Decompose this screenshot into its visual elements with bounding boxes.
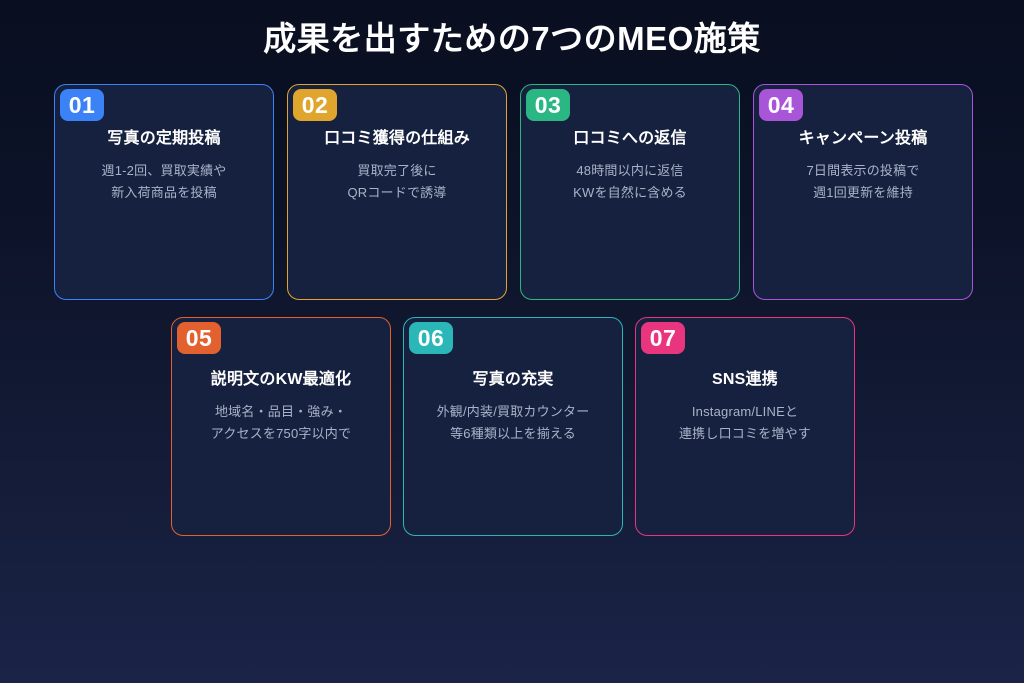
card-badge-04: 04 [759, 89, 803, 121]
card-badge-01: 01 [60, 89, 104, 121]
slide-root: 成果を出すための7つのMEO施策 01 写真の定期投稿 週1-2回、買取実績や … [0, 0, 1024, 683]
card-description-line-1: 週1-2回、買取実績や [61, 160, 267, 182]
card-description-02: 買取完了後に QRコードで誘導 [294, 160, 500, 204]
card-07[interactable]: 07 SNS連携 Instagram/LINEと 連携し口コミを増やす [635, 317, 855, 536]
card-description-line-1: 外観/内装/買取カウンター [410, 401, 616, 423]
card-description-line-2: QRコードで誘導 [294, 182, 500, 204]
card-description-05: 地域名・品目・強み・ アクセスを750字以内で [178, 401, 384, 445]
card-badge-03: 03 [526, 89, 570, 121]
card-description-01: 週1-2回、買取実績や 新入荷商品を投稿 [61, 160, 267, 204]
card-01[interactable]: 01 写真の定期投稿 週1-2回、買取実績や 新入荷商品を投稿 [54, 84, 274, 300]
card-description-line-2: 週1回更新を維持 [760, 182, 966, 204]
card-description-line-1: Instagram/LINEと [642, 401, 848, 423]
card-description-07: Instagram/LINEと 連携し口コミを増やす [642, 401, 848, 445]
card-title-03: 口コミへの返信 [527, 128, 733, 150]
card-row-bottom: 05 説明文のKW最適化 地域名・品目・強み・ アクセスを750字以内で 06 … [171, 317, 855, 536]
card-badge-05: 05 [177, 322, 221, 354]
card-badge-07: 07 [641, 322, 685, 354]
card-04[interactable]: 04 キャンペーン投稿 7日間表示の投稿で 週1回更新を維持 [753, 84, 973, 300]
card-description-line-2: KWを自然に含める [527, 182, 733, 204]
card-description-06: 外観/内装/買取カウンター 等6種類以上を揃える [410, 401, 616, 445]
card-description-line-2: アクセスを750字以内で [178, 423, 384, 445]
card-badge-06: 06 [409, 322, 453, 354]
card-description-line-2: 連携し口コミを増やす [642, 423, 848, 445]
card-title-06: 写真の充実 [410, 369, 616, 391]
card-badge-02: 02 [293, 89, 337, 121]
page-title: 成果を出すための7つのMEO施策 [0, 18, 1024, 60]
card-title-05: 説明文のKW最適化 [178, 369, 384, 391]
card-description-line-1: 7日間表示の投稿で [760, 160, 966, 182]
card-title-04: キャンペーン投稿 [760, 128, 966, 150]
card-description-03: 48時間以内に返信 KWを自然に含める [527, 160, 733, 204]
card-description-line-2: 新入荷商品を投稿 [61, 182, 267, 204]
card-title-07: SNS連携 [642, 369, 848, 391]
card-description-line-2: 等6種類以上を揃える [410, 423, 616, 445]
card-description-04: 7日間表示の投稿で 週1回更新を維持 [760, 160, 966, 204]
card-title-01: 写真の定期投稿 [61, 128, 267, 150]
card-05[interactable]: 05 説明文のKW最適化 地域名・品目・強み・ アクセスを750字以内で [171, 317, 391, 536]
card-title-02: 口コミ獲得の仕組み [294, 128, 500, 150]
card-description-line-1: 48時間以内に返信 [527, 160, 733, 182]
card-description-line-1: 地域名・品目・強み・ [178, 401, 384, 423]
card-02[interactable]: 02 口コミ獲得の仕組み 買取完了後に QRコードで誘導 [287, 84, 507, 300]
card-06[interactable]: 06 写真の充実 外観/内装/買取カウンター 等6種類以上を揃える [403, 317, 623, 536]
card-03[interactable]: 03 口コミへの返信 48時間以内に返信 KWを自然に含める [520, 84, 740, 300]
card-row-top: 01 写真の定期投稿 週1-2回、買取実績や 新入荷商品を投稿 02 口コミ獲得… [54, 84, 970, 300]
card-description-line-1: 買取完了後に [294, 160, 500, 182]
